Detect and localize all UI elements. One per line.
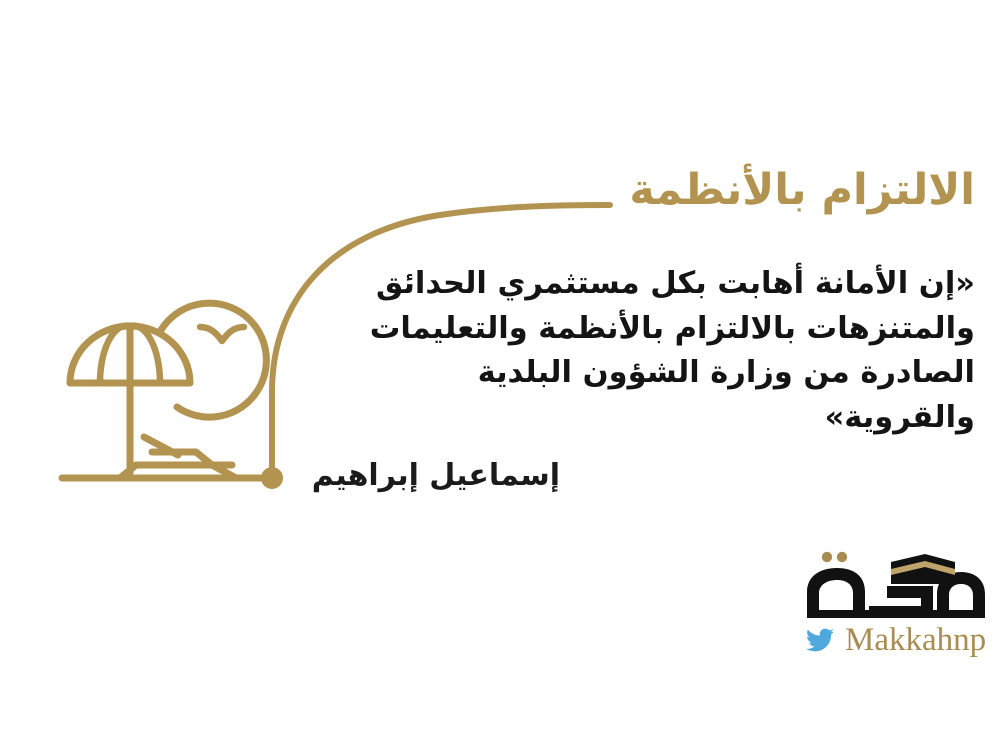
quote-line: والقروية» (365, 396, 975, 441)
beach-umbrella-rib-right-icon (130, 326, 160, 383)
seagull-icon (200, 327, 244, 341)
wordmark-dot (837, 552, 847, 562)
lounge-chair-backrest-icon (144, 437, 178, 455)
quote-text: «إن الأمانة أهابت بكل مستثمري الحدائق وا… (365, 262, 975, 440)
makkah-wordmark-icon (795, 548, 990, 620)
twitter-bird-icon (803, 626, 837, 654)
quote-line: والمتنزهات بالالتزام بالأنظمة والتعليمات (365, 307, 975, 352)
quote-card-canvas: الالتزام بالأنظمة «إن الأمانة أهابت بكل … (0, 0, 1000, 750)
quote-line: الصادرة من وزارة الشؤون البلدية (365, 351, 975, 396)
quote-line: «إن الأمانة أهابت بكل مستثمري الحدائق (365, 262, 975, 307)
attribution-name: إسماعيل إبراهيم (312, 458, 560, 493)
wordmark-dot (822, 552, 832, 562)
twitter-handle-row[interactable]: Makkahnp (803, 622, 990, 658)
sun-circle-icon (161, 303, 266, 417)
lounge-chair-headrail-icon (152, 452, 212, 465)
makkah-logo[interactable]: Makkahnp (795, 548, 990, 660)
twitter-handle-text: Makkahnp (845, 624, 986, 657)
beach-umbrella-rib-left-icon (100, 326, 130, 383)
wordmark-baseline (807, 610, 985, 618)
lounge-chair-frame-icon (120, 465, 236, 478)
connector-dot (261, 467, 283, 489)
beach-umbrella-canopy-icon (70, 326, 190, 383)
page-title: الالتزام بالأنظمة (355, 168, 975, 213)
